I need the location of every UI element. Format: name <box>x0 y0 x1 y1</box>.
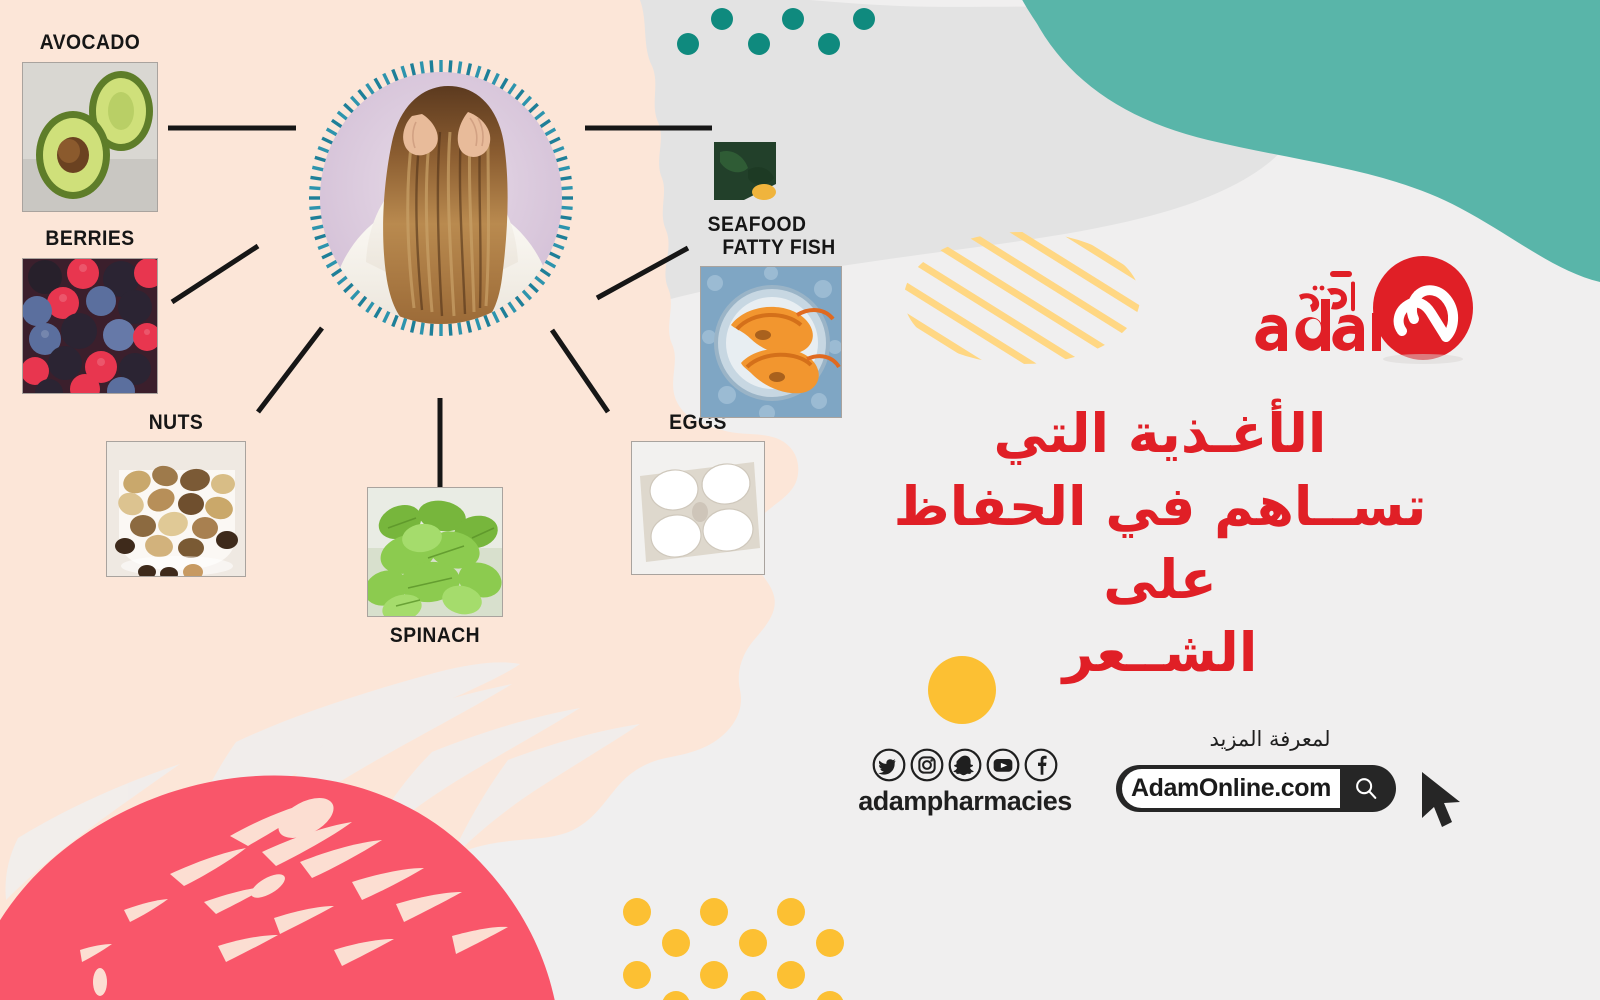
food-node-spinach: SPINACH <box>367 487 503 646</box>
instagram-icon[interactable] <box>910 748 944 782</box>
food-image-berries <box>22 258 158 394</box>
youtube-icon[interactable] <box>986 748 1020 782</box>
food-node-berries: BERRIES <box>22 228 158 394</box>
poster-canvas: AVOCADO BERRIES <box>0 0 1600 1000</box>
food-label-seafood: SEAFOOD <box>708 214 883 235</box>
food-image-shrimp <box>700 266 842 418</box>
food-node-nuts: NUTS <box>106 412 246 577</box>
food-label-fatty-fish: FATTY FISH <box>708 237 883 258</box>
infographic-panel: AVOCADO BERRIES <box>0 0 920 1000</box>
food-node-avocado: AVOCADO <box>22 32 158 212</box>
food-label-spinach: SPINACH <box>372 625 497 646</box>
search-bar[interactable]: AdamOnline.com <box>1116 765 1396 812</box>
food-image-greens-sliver <box>714 142 776 209</box>
mouse-cursor-arrow <box>1418 770 1470 832</box>
food-label-avocado: AVOCADO <box>27 32 152 53</box>
headline-line-2: تســاهم في الحفاظ على <box>880 471 1440 617</box>
social-icon-row <box>845 748 1085 782</box>
social-handle: adampharmacies <box>845 786 1085 817</box>
social-block: adampharmacies <box>845 748 1085 817</box>
food-node-seafood: SEAFOOD FATTY FISH <box>700 214 890 418</box>
food-image-nuts <box>106 441 246 577</box>
food-image-eggs <box>631 441 765 575</box>
search-input[interactable]: AdamOnline.com <box>1122 769 1340 808</box>
headline-line-3: الشــعر <box>880 617 1440 690</box>
food-label-berries: BERRIES <box>27 228 152 249</box>
hair-photo <box>320 72 562 324</box>
adam-a-monogram-icon <box>1368 255 1478 365</box>
facebook-icon[interactable] <box>1024 748 1058 782</box>
headline-line-1: الأغـذية التي <box>880 398 1440 471</box>
headline: الأغـذية التي تســاهم في الحفاظ على الشـ… <box>880 398 1440 690</box>
food-image-spinach <box>367 487 503 617</box>
food-image-avocado <box>22 62 158 212</box>
snapchat-icon[interactable] <box>948 748 982 782</box>
magnifier-icon[interactable] <box>1340 769 1392 808</box>
cta-more-label: لمعرفة المزيد <box>1120 727 1420 751</box>
center-hair-node <box>295 48 587 348</box>
twitter-icon[interactable] <box>872 748 906 782</box>
food-label-nuts: NUTS <box>112 412 241 433</box>
food-node-eggs: EGGS <box>631 412 765 575</box>
